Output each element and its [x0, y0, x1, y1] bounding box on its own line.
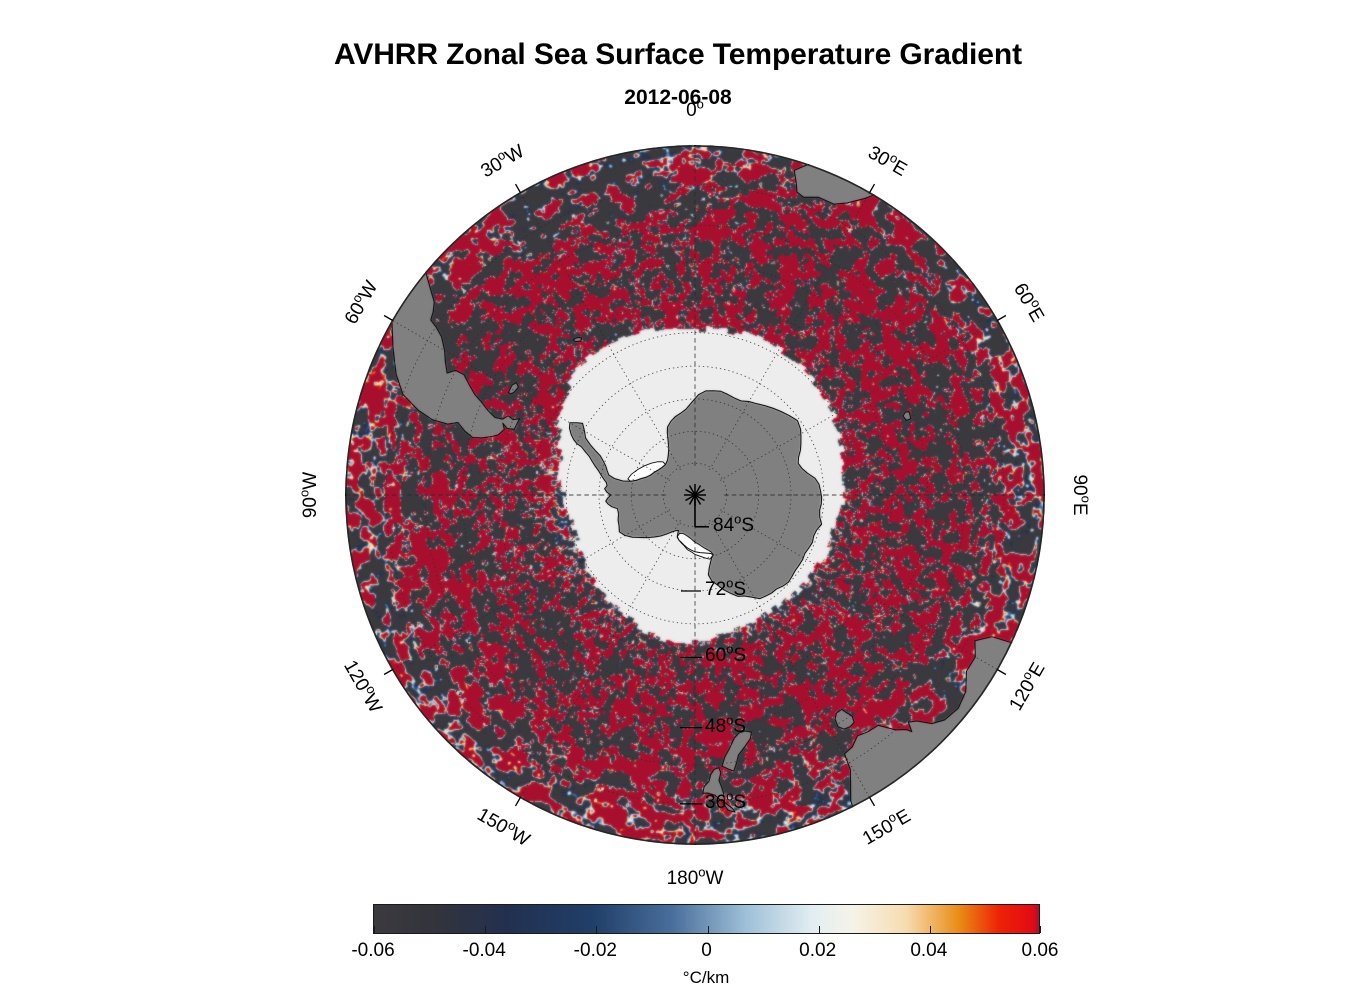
longitude-label-value: 180 [667, 868, 699, 889]
longitude-label-e90: 90oE [1068, 474, 1090, 515]
longitude-tick [516, 184, 521, 193]
colorbar-tick-label: 0 [701, 940, 712, 962]
coastline-kerguelen [903, 412, 911, 421]
graticule-meridian [392, 510, 670, 670]
colorbar-unit-label: °C/km [683, 968, 729, 988]
degree-symbol: o [698, 865, 705, 880]
longitude-tick [384, 316, 393, 321]
colorbar-tick-label: 0.04 [910, 940, 947, 962]
coastline-australia [844, 637, 1045, 845]
longitude-label-hemisphere: E [1069, 503, 1090, 516]
colorbar-tick [819, 926, 820, 933]
colorbar-tick [485, 926, 486, 933]
degree-symbol: o [297, 490, 312, 497]
graticule-meridian [392, 320, 670, 480]
longitude-tick [997, 670, 1006, 675]
colorbar-tick-label: 0.06 [1022, 940, 1059, 962]
polar-map-panel[interactable] [345, 145, 1045, 845]
colorbar-tick [1040, 926, 1041, 933]
colorbar-tick [930, 926, 931, 933]
longitude-label-e180: 180oW [667, 868, 724, 890]
coastline-south-america [392, 222, 520, 438]
longitude-tick [997, 316, 1006, 321]
longitude-tick [384, 670, 393, 675]
longitude-label-hemisphere: W [300, 472, 321, 490]
figure-subtitle-date: 2012-06-08 [0, 86, 1356, 110]
colorbar-tick [708, 926, 709, 933]
longitude-label-hemisphere: W [706, 868, 724, 889]
colorbar-tick-label: -0.06 [351, 940, 394, 962]
ice-shelf-edge-ronne-ice-shelf [628, 462, 666, 482]
map-stack [345, 145, 1045, 845]
colorbar-tick-label: -0.04 [463, 940, 506, 962]
page-title: AVHRR Zonal Sea Surface Temperature Grad… [0, 38, 1356, 72]
graticule-meridian [520, 192, 680, 470]
colorbar-tick [596, 926, 597, 933]
coastline-new-zealand-south [722, 731, 751, 771]
graticule-meridian [710, 192, 870, 470]
longitude-label-w90: 90oW [300, 472, 322, 518]
graticule-meridian [720, 510, 998, 670]
graticule-meridian [520, 520, 680, 798]
colorbar-gradient-bar[interactable] [373, 904, 1040, 934]
coastline-south-georgia [573, 337, 581, 341]
longitude-tick [516, 797, 521, 806]
colorbar-tick-label: -0.02 [574, 940, 617, 962]
longitude-label-value: 90 [1069, 474, 1090, 495]
degree-symbol: o [1078, 496, 1093, 503]
longitude-label-value: 90 [300, 497, 321, 518]
colorbar-tick [374, 926, 375, 933]
graticule-meridian [720, 320, 998, 480]
longitude-tick [870, 797, 875, 806]
map-overlay-graticule-coastline [345, 145, 1045, 845]
coastline-madagascar [964, 181, 1045, 227]
longitude-tick [870, 184, 875, 193]
colorbar-tick-label: 0.02 [799, 940, 836, 962]
coastline-tasmania [835, 709, 854, 729]
coastline-new-zealand-north [703, 768, 735, 812]
